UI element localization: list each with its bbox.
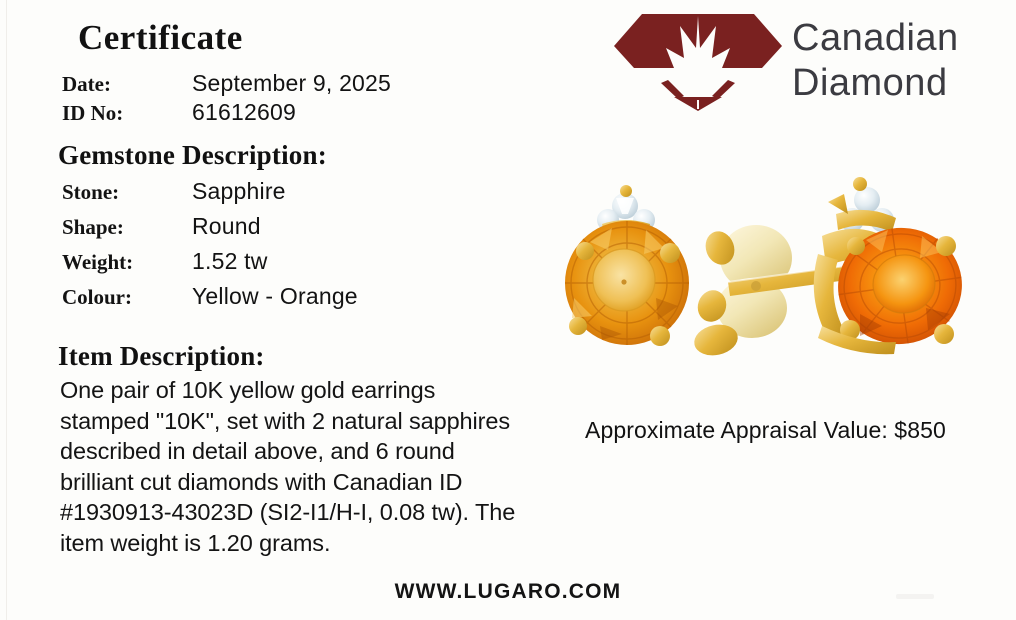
prong xyxy=(936,236,956,256)
gemstone-description-heading: Gemstone Description: xyxy=(58,140,327,171)
certificate-page: Certificate Date:September 9, 2025 ID No… xyxy=(0,0,1016,620)
weight-row: Weight:1.52 tw xyxy=(62,248,268,275)
item-description-text: One pair of 10K yellow gold earrings sta… xyxy=(60,375,560,558)
stone-label: Stone: xyxy=(62,180,192,205)
prong xyxy=(660,243,680,263)
prong xyxy=(576,242,594,260)
item-description-line: brilliant cut diamonds with Canadian ID xyxy=(60,467,560,498)
earrings-photograph xyxy=(560,158,980,380)
shape-value: Round xyxy=(192,213,261,240)
id-row: ID No:61612609 xyxy=(62,99,296,126)
colour-row: Colour:Yellow - Orange xyxy=(62,283,358,310)
brand-line-1: Canadian xyxy=(792,16,959,61)
stone-value: Sapphire xyxy=(192,178,286,205)
left-earring xyxy=(565,185,689,346)
id-value: 61612609 xyxy=(192,99,296,126)
weight-value: 1.52 tw xyxy=(192,248,268,275)
prong xyxy=(934,324,954,344)
prong xyxy=(569,317,587,335)
right-diamond-accents xyxy=(828,177,896,232)
prong xyxy=(650,326,670,346)
stone-row: Stone:Sapphire xyxy=(62,178,286,205)
id-label: ID No: xyxy=(62,101,192,126)
colour-label: Colour: xyxy=(62,285,192,310)
footer-website-url: WWW.LUGARO.COM xyxy=(0,580,1016,604)
item-description-line: described in detail above, and 6 round xyxy=(60,436,560,467)
item-description-line: item weight is 1.20 grams. xyxy=(60,528,560,559)
canadian-diamond-logo-icon xyxy=(612,8,784,111)
item-description-line: #1930913-43023D (SI2-I1/H-I, 0.08 tw). T… xyxy=(60,497,560,528)
date-value: September 9, 2025 xyxy=(192,70,391,97)
date-label: Date: xyxy=(62,72,192,97)
item-description-line: stamped "10K", set with 2 natural sapphi… xyxy=(60,406,560,437)
brand-line-2: Diamond xyxy=(792,61,959,106)
shape-row: Shape:Round xyxy=(62,213,261,240)
weight-label: Weight: xyxy=(62,250,192,275)
scan-edge-artifact xyxy=(6,0,7,620)
page-title: Certificate xyxy=(78,18,243,58)
shape-label: Shape: xyxy=(62,215,192,240)
right-earring xyxy=(814,177,970,354)
date-row: Date:September 9, 2025 xyxy=(62,70,391,97)
item-description-line: One pair of 10K yellow gold earrings xyxy=(60,375,560,406)
brand-logo-text: Canadian Diamond xyxy=(792,16,959,106)
colour-value: Yellow - Orange xyxy=(192,283,358,310)
item-description-heading: Item Description: xyxy=(58,341,265,372)
brand-logo: Canadian Diamond xyxy=(612,8,972,113)
prong xyxy=(847,237,865,255)
appraisal-value: Approximate Appraisal Value: $850 xyxy=(585,417,946,444)
